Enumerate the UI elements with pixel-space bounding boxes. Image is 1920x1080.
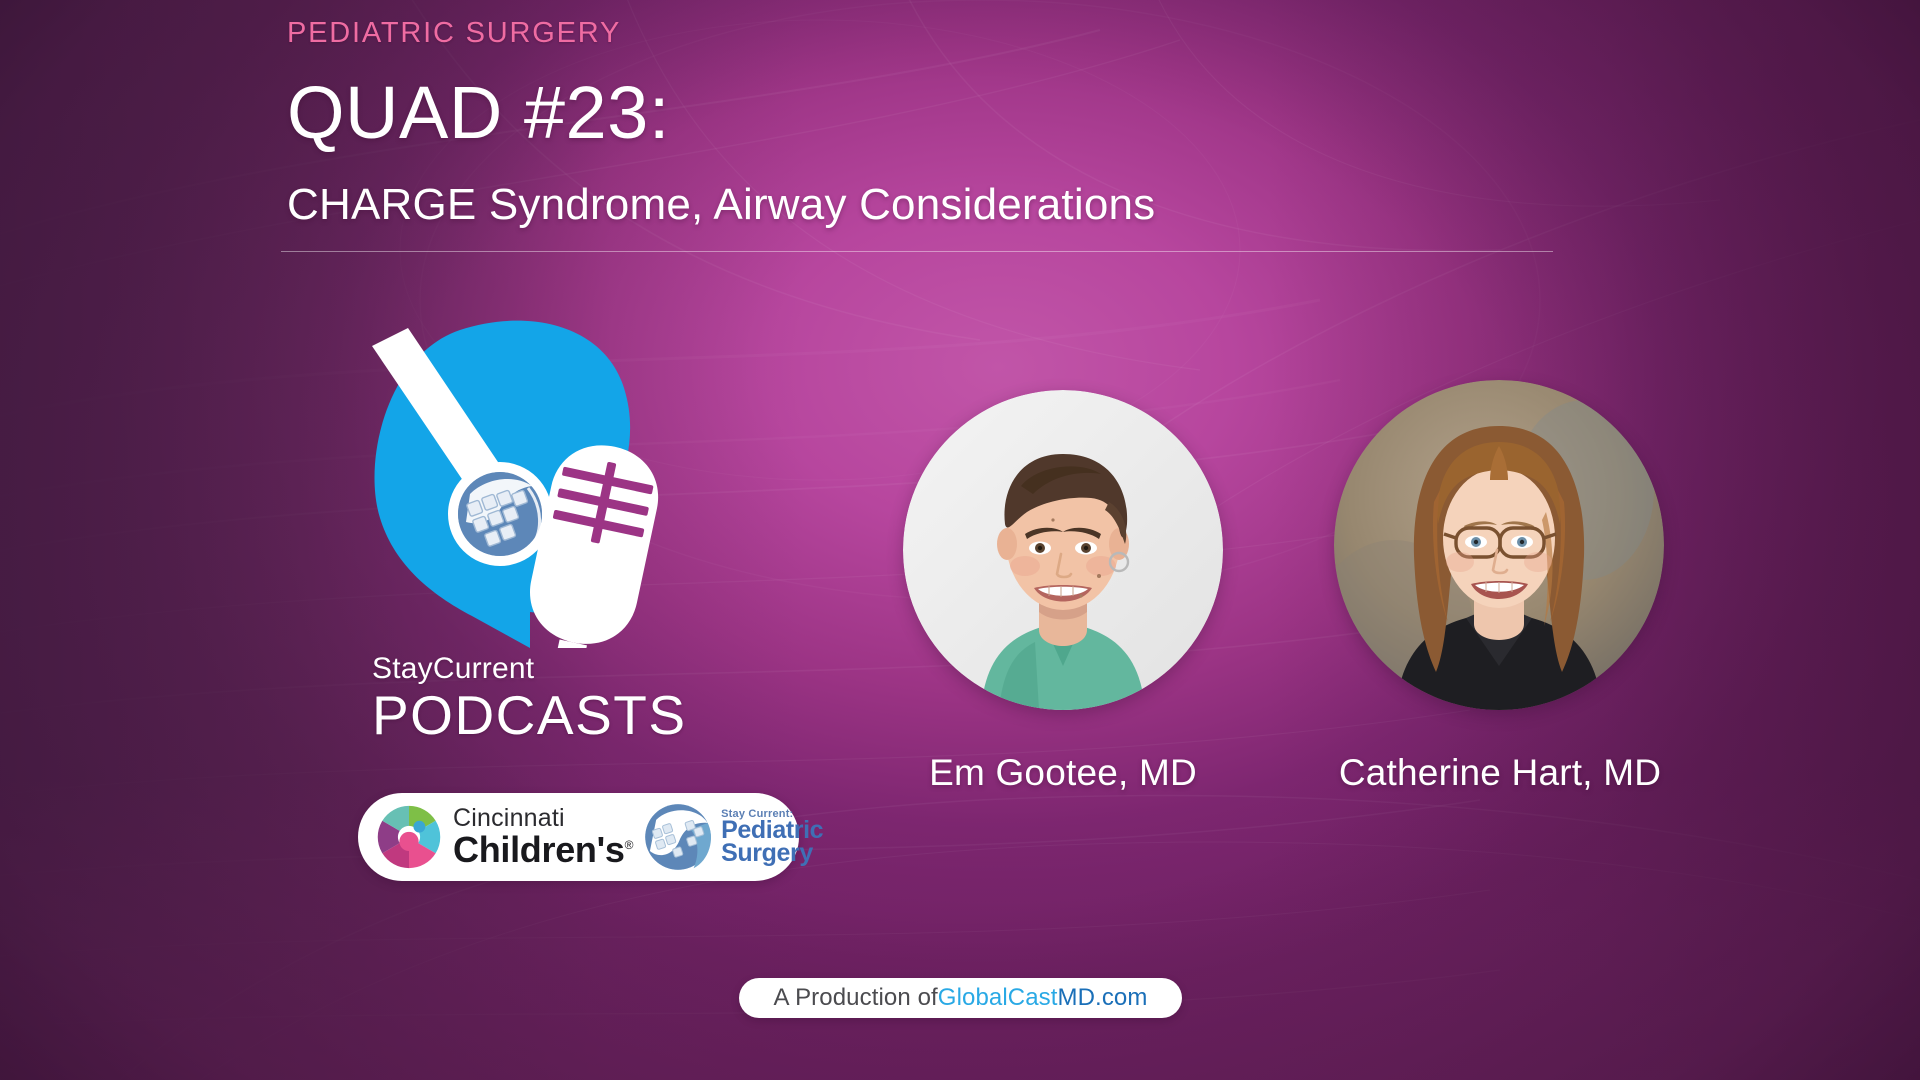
podcast-brand-line1: StayCurrent: [372, 652, 692, 686]
staycurrent-globe-icon: [639, 798, 717, 876]
cchmc-pinwheel-icon: [372, 800, 446, 874]
presenter-avatar-2: [1334, 380, 1664, 710]
production-prefix: A Production of: [774, 984, 938, 1012]
production-brand-suffix: MD.com: [1058, 984, 1148, 1012]
series-eyebrow: PEDIATRIC SURGERY: [287, 17, 621, 50]
podcast-brand-line2: PODCASTS: [372, 684, 712, 746]
presenter-name-1: Em Gootee, MD: [843, 752, 1283, 794]
partner-line2: Surgery: [721, 841, 823, 866]
production-credit-badge[interactable]: A Production of GlobalCastMD.com: [739, 978, 1182, 1018]
staycurrent-pedsurg-wordmark: Stay Current: Pediatric Surgery: [721, 809, 823, 866]
cincinnati-childrens-badge: Cincinnati Children's® Stay Current: Ped…: [358, 793, 799, 881]
registered-mark: ®: [625, 838, 634, 852]
podcast-title-slide: PEDIATRIC SURGERY QUAD #23: CHARGE Syndr…: [0, 0, 1920, 1080]
globe-icon: [458, 472, 542, 556]
presenter-avatar-1: [903, 390, 1223, 710]
staycurrent-podcasts-logo: StayCurrent PODCASTS: [352, 318, 772, 768]
header-divider: [281, 251, 1553, 252]
presenter-name-2: Catherine Hart, MD: [1280, 752, 1720, 794]
page-title: QUAD #23:: [287, 74, 670, 152]
production-brand: GlobalCast: [938, 984, 1058, 1012]
page-subtitle: CHARGE Syndrome, Airway Considerations: [287, 180, 1155, 230]
cchmc-line1: Cincinnati: [453, 806, 633, 831]
cchmc-line2: Children's®: [453, 832, 633, 868]
cchmc-wordmark: Cincinnati Children's®: [453, 806, 633, 868]
